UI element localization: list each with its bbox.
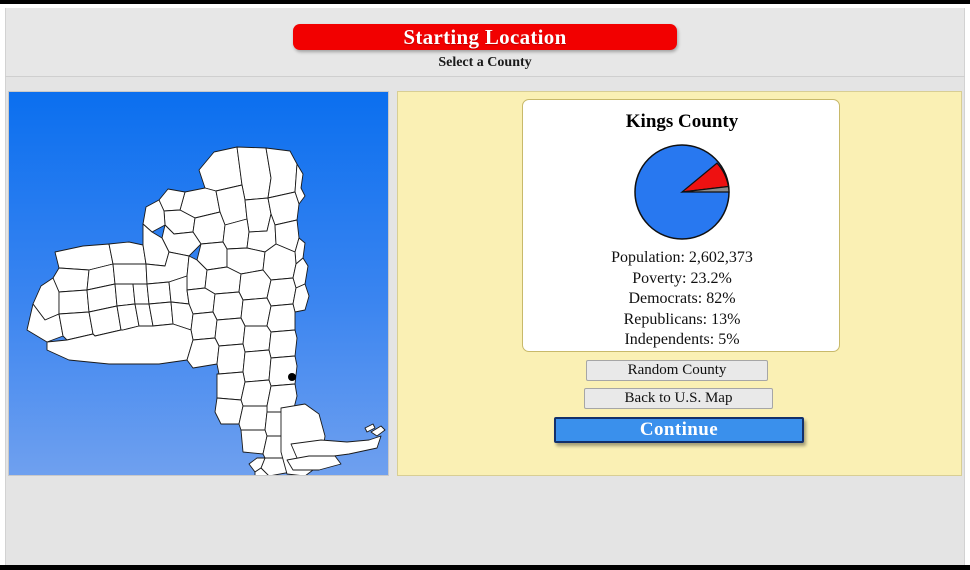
back-to-us-map-button[interactable]: Back to U.S. Map (584, 388, 773, 409)
county-info-panel: Kings County Population: 2,602,373 Pover… (397, 91, 962, 476)
stat-republicans: Republicans: 13% (523, 310, 841, 331)
page-subtitle: Select a County (0, 55, 970, 71)
stat-democrats: Democrats: 82% (523, 289, 841, 310)
county-stats-list: Population: 2,602,373 Poverty: 23.2% Dem… (523, 248, 841, 351)
county-name-heading: Kings County (523, 111, 841, 133)
stat-population: Population: 2,602,373 (523, 248, 841, 269)
new-york-county-map[interactable] (9, 92, 388, 475)
capital-marker-icon (288, 373, 296, 381)
stat-poverty: Poverty: 23.2% (523, 269, 841, 290)
state-map-panel[interactable] (8, 91, 389, 476)
continue-button[interactable]: Continue (554, 417, 804, 443)
random-county-button[interactable]: Random County (586, 360, 768, 381)
page-title: Starting Location (293, 24, 677, 50)
app-window: Starting Location Select a County (0, 0, 970, 570)
party-pie-chart-svg (632, 142, 732, 242)
stat-independents: Independents: 5% (523, 330, 841, 351)
party-pie-chart (632, 142, 732, 242)
county-info-card: Kings County Population: 2,602,373 Pover… (522, 99, 840, 352)
